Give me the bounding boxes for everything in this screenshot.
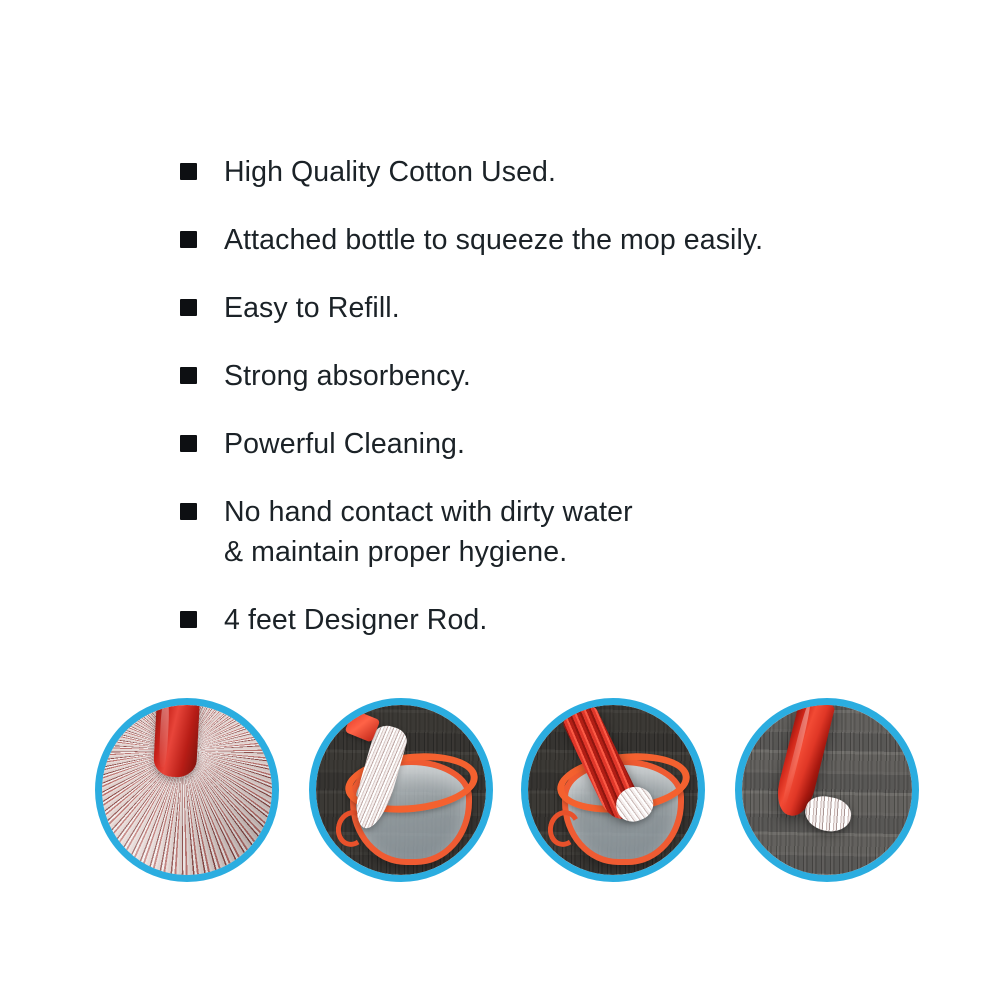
feature-label: No hand contact with dirty water & maint…	[224, 492, 633, 572]
product-photo-strip	[95, 698, 915, 884]
product-photo-mop-head-closeup	[95, 698, 279, 882]
feature-item-easy-refill: Easy to Refill.	[180, 288, 880, 328]
feature-item-powerful-cleaning: Powerful Cleaning.	[180, 424, 880, 464]
bullet-square-icon	[180, 611, 197, 628]
photo-inner	[316, 705, 486, 875]
product-photo-rod-over-bucket	[521, 698, 705, 882]
feature-list: High Quality Cotton Used. Attached bottl…	[180, 152, 880, 640]
feature-label: Attached bottle to squeeze the mop easil…	[224, 220, 763, 260]
feature-label: Powerful Cleaning.	[224, 424, 465, 464]
bullet-square-icon	[180, 503, 197, 520]
feature-label: 4 feet Designer Rod.	[224, 600, 487, 640]
feature-item-designer-rod: 4 feet Designer Rod.	[180, 600, 880, 640]
bullet-square-icon	[180, 299, 197, 316]
bullet-square-icon	[180, 435, 197, 452]
feature-item-no-hand-contact: No hand contact with dirty water & maint…	[180, 492, 880, 572]
feature-label: High Quality Cotton Used.	[224, 152, 556, 192]
bullet-square-icon	[180, 163, 197, 180]
feature-item-quality-cotton: High Quality Cotton Used.	[180, 152, 880, 192]
feature-item-strong-absorbency: Strong absorbency.	[180, 356, 880, 396]
photo-inner	[742, 705, 912, 875]
feature-label: Easy to Refill.	[224, 288, 400, 328]
photo-inner	[102, 705, 272, 875]
mop-socket-graphic	[153, 705, 200, 777]
bullet-square-icon	[180, 231, 197, 248]
product-feature-page: High Quality Cotton Used. Attached bottl…	[0, 0, 1000, 1000]
product-photo-mop-in-bucket	[309, 698, 493, 882]
feature-label: Strong absorbency.	[224, 356, 471, 396]
feature-item-attached-bottle: Attached bottle to squeeze the mop easil…	[180, 220, 880, 260]
product-photo-mop-on-floor	[735, 698, 919, 882]
bullet-square-icon	[180, 367, 197, 384]
photo-inner	[528, 705, 698, 875]
